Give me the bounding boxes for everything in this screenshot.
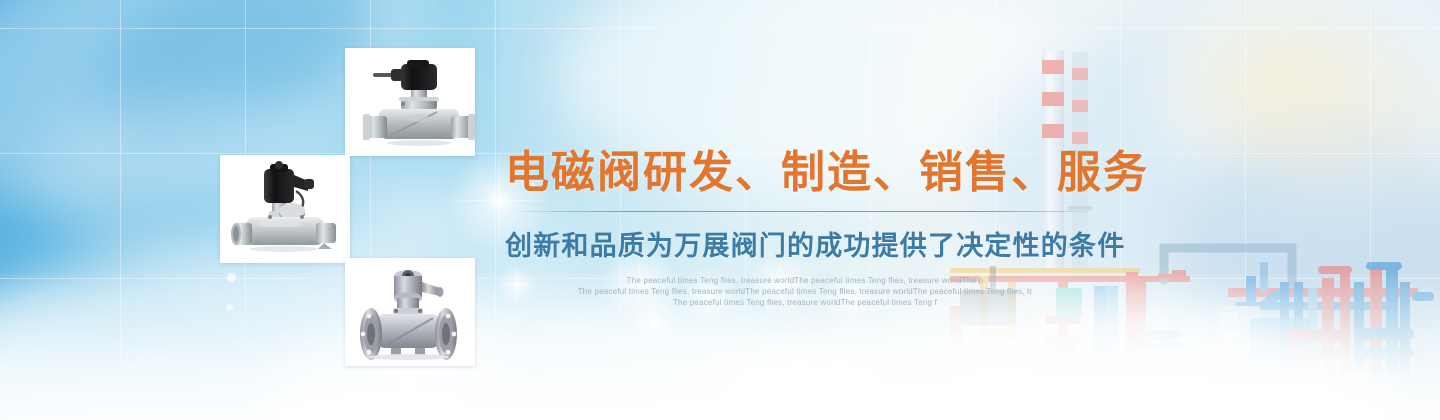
page-title: 电磁阀研发、制造、销售、服务	[505, 150, 1105, 197]
solenoid-valve-threaded-side-icon	[345, 48, 475, 156]
hero-banner: 电磁阀研发、制造、销售、服务 创新和品质为万展阀门的成功提供了决定性的条件 Th…	[0, 0, 1440, 420]
page-subtitle: 创新和品质为万展阀门的成功提供了决定性的条件	[505, 224, 1105, 263]
micro-caption-line-2: The peaceful times Teng flies, treasure …	[505, 286, 1105, 297]
title-divider	[520, 211, 1090, 212]
micro-caption-line-1: The peaceful times Teng flies, treasure …	[505, 275, 1105, 286]
solenoid-valve-threaded-angled-icon	[220, 155, 350, 263]
product-tile-1[interactable]	[345, 48, 475, 156]
hero-text-block: 电磁阀研发、制造、销售、服务 创新和品质为万展阀门的成功提供了决定性的条件 Th…	[505, 150, 1105, 308]
product-tile-2[interactable]	[220, 155, 350, 263]
micro-caption-block: The peaceful times Teng flies, treasure …	[505, 275, 1105, 308]
product-tile-3[interactable]	[345, 258, 475, 366]
micro-caption-line-3: The peaceful times Teng flies, treasure …	[505, 297, 1105, 308]
solenoid-valve-flanged-icon	[345, 258, 475, 366]
